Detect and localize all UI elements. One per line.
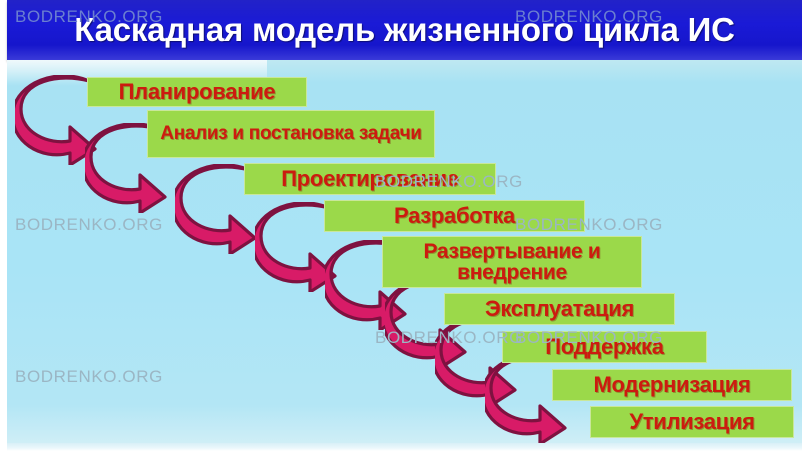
watermark: BODRENKO.ORG [15,7,163,27]
stage-box: Эксплуатация [444,293,675,325]
slide-canvas: Каскадная модель жизненного цикла ИС Пла… [0,0,802,451]
watermark: BODRENKO.ORG [15,367,163,387]
stage-box: Модернизация [552,369,792,401]
stage-label: Утилизация [591,411,793,433]
stage-label: Эксплуатация [445,298,674,320]
stage-box: Утилизация [590,406,794,438]
watermark: BODRENKO.ORG [515,328,663,348]
stage-label: Анализ и постановка задачи [148,124,434,143]
watermark: BODRENKO.ORG [375,328,523,348]
stage-box: Анализ и постановка задачи [147,110,435,158]
watermark: BODRENKO.ORG [375,172,523,192]
watermark: BODRENKO.ORG [515,215,663,235]
stage-label: Планирование [88,81,306,103]
watermark: BODRENKO.ORG [515,7,663,27]
stage-box: Планирование [87,77,307,107]
stage-box: Развертывание и внедрение [382,236,642,288]
watermark: BODRENKO.ORG [15,215,163,235]
diagram-area: ПланированиеАнализ и постановка задачиПр… [7,60,802,443]
bottom-strip [7,443,802,451]
stage-label: Модернизация [553,374,791,396]
stage-label: Развертывание и внедрение [383,241,641,284]
